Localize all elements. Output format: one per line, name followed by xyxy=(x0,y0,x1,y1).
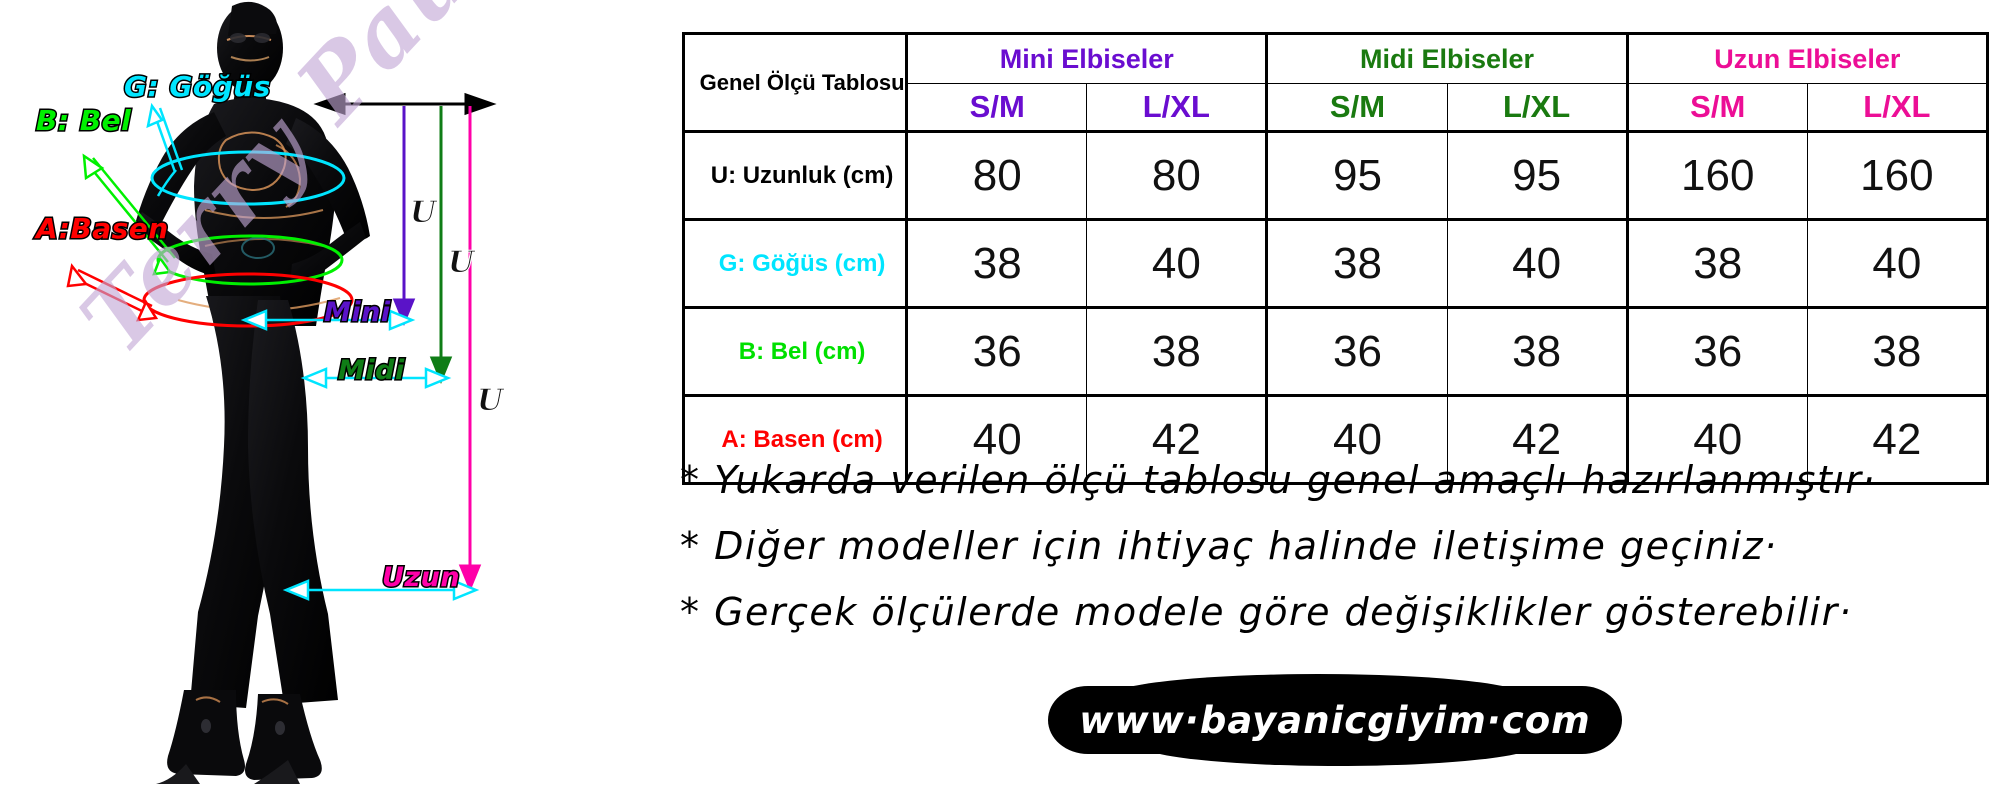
label-gogus: G: Göğüs xyxy=(124,70,271,103)
length-indicator-lines xyxy=(395,106,479,588)
corner-label: Genel Ölçü Tablosu xyxy=(684,34,907,132)
cell-bel-uzun-lxl: 38 xyxy=(1807,308,1987,396)
model-illustration-panel: Terry Pau G: Göğüs B: Bel A:Basen Mini M… xyxy=(0,0,660,811)
table-and-notes-panel: Genel Ölçü Tablosu Mini Elbiseler Midi E… xyxy=(660,0,2010,811)
table-row: U: Uzunluk (cm) 80 80 95 95 160 160 xyxy=(684,132,1988,220)
uzun-length-line xyxy=(461,106,479,588)
cell-uzunluk-uzun-sm: 160 xyxy=(1627,132,1807,220)
cell-gogus-mini-sm: 38 xyxy=(907,220,1087,308)
cell-gogus-midi-sm: 38 xyxy=(1267,220,1447,308)
cell-uzunluk-mini-sm: 80 xyxy=(907,132,1087,220)
marker-uzun: Uzun xyxy=(382,562,460,593)
group-header-mini: Mini Elbiseler xyxy=(907,34,1267,84)
u-mark-midi: U xyxy=(448,245,474,280)
cell-bel-mini-lxl: 38 xyxy=(1087,308,1267,396)
cell-uzunluk-midi-sm: 95 xyxy=(1267,132,1447,220)
cell-gogus-midi-lxl: 40 xyxy=(1447,220,1627,308)
cell-gogus-uzun-sm: 38 xyxy=(1627,220,1807,308)
size-header-uzun-sm: S/M xyxy=(1627,84,1807,132)
marker-mini: Mini xyxy=(324,297,391,328)
model-silhouette xyxy=(134,2,370,784)
size-table: Genel Ölçü Tablosu Mini Elbiseler Midi E… xyxy=(682,32,1989,485)
size-header-mini-sm: S/M xyxy=(907,84,1087,132)
note-line-2: * Diğer modeller için ihtiyaç halinde il… xyxy=(680,524,2000,568)
website-url[interactable]: www·bayanicgiyim·com xyxy=(1048,686,1622,754)
table-header-group-row: Genel Ölçü Tablosu Mini Elbiseler Midi E… xyxy=(684,34,1988,84)
size-header-midi-lxl: L/XL xyxy=(1447,84,1627,132)
label-basen: A:Basen xyxy=(36,212,169,245)
cell-bel-mini-sm: 36 xyxy=(907,308,1087,396)
size-header-mini-lxl: L/XL xyxy=(1087,84,1267,132)
row-label-uzunluk: U: Uzunluk (cm) xyxy=(684,132,907,220)
notes-section: * Yukarda verilen ölçü tablosu genel ama… xyxy=(680,458,2000,656)
cell-bel-midi-lxl: 38 xyxy=(1447,308,1627,396)
cell-gogus-uzun-lxl: 40 xyxy=(1807,220,1987,308)
group-header-uzun: Uzun Elbiseler xyxy=(1627,34,1987,84)
row-label-gogus: G: Göğüs (cm) xyxy=(684,220,907,308)
marker-midi: Midi xyxy=(338,355,405,386)
note-line-3: * Gerçek ölçülerde modele göre değişikli… xyxy=(680,590,2000,634)
cell-gogus-mini-lxl: 40 xyxy=(1087,220,1267,308)
u-mark-uzun: U xyxy=(477,383,503,418)
midi-length-line xyxy=(432,106,450,380)
table-row: G: Göğüs (cm) 38 40 38 40 38 40 xyxy=(684,220,1988,308)
website-banner[interactable]: www·bayanicgiyim·com xyxy=(1048,686,1622,754)
cell-uzunluk-midi-lxl: 95 xyxy=(1447,132,1627,220)
group-header-midi: Midi Elbiseler xyxy=(1267,34,1627,84)
cell-uzunluk-uzun-lxl: 160 xyxy=(1807,132,1987,220)
note-line-1: * Yukarda verilen ölçü tablosu genel ama… xyxy=(680,458,2000,502)
row-label-bel: B: Bel (cm) xyxy=(684,308,907,396)
label-bel: B: Bel xyxy=(36,104,131,137)
cell-bel-midi-sm: 36 xyxy=(1267,308,1447,396)
cell-uzunluk-mini-lxl: 80 xyxy=(1087,132,1267,220)
size-header-uzun-lxl: L/XL xyxy=(1807,84,1987,132)
size-chart-page: Terry Pau G: Göğüs B: Bel A:Basen Mini M… xyxy=(0,0,2010,811)
cell-bel-uzun-sm: 36 xyxy=(1627,308,1807,396)
size-header-midi-sm: S/M xyxy=(1267,84,1447,132)
u-mark-mini: U xyxy=(410,195,436,230)
table-row: B: Bel (cm) 36 38 36 38 36 38 xyxy=(684,308,1988,396)
